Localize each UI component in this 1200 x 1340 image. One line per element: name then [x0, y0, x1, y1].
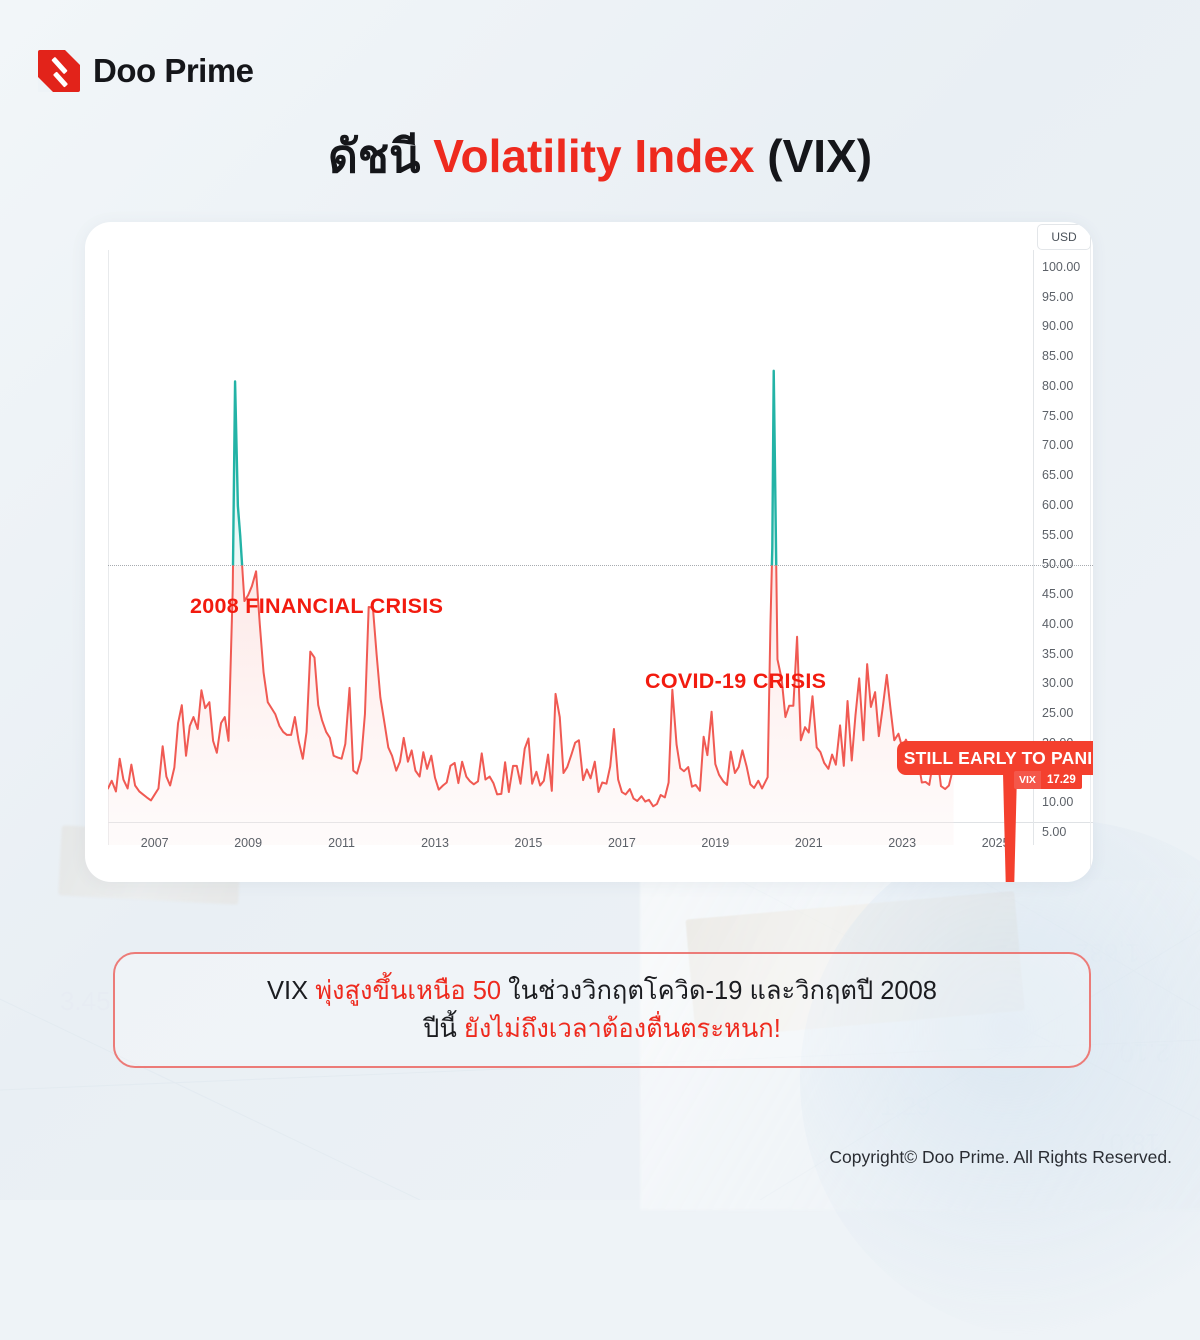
x-axis-tick: 2009 — [234, 836, 262, 850]
y-axis-tick: 90.00 — [1042, 319, 1073, 333]
y-axis-tick: 60.00 — [1042, 498, 1073, 512]
y-axis-tick: 45.00 — [1042, 587, 1073, 601]
y-axis-tick: 70.00 — [1042, 438, 1073, 452]
y-axis-tick: 85.00 — [1042, 349, 1073, 363]
chart-card: USD 5.0010.0015.0020.0025.0030.0035.0040… — [85, 222, 1093, 882]
page-title-suffix: (VIX) — [767, 130, 872, 182]
x-axis-labels: 2007200920112013201520172019202120232025 — [108, 826, 1093, 856]
caption-line-1-highlight: พุ่งสูงขึ้นเหนือ 50 — [315, 977, 501, 1005]
y-axis-tick: 100.00 — [1042, 260, 1080, 274]
x-axis-tick: 2015 — [515, 836, 543, 850]
callout-pointer-icon — [1003, 773, 1017, 882]
brand-name: Doo Prime — [93, 52, 254, 90]
annotation-2008-financial-crisis: 2008 FINANCIAL CRISIS — [190, 594, 443, 619]
doo-prime-logo-icon — [38, 50, 80, 92]
caption-box: VIX พุ่งสูงขึ้นเหนือ 50 ในช่วงวิกฤตโควิด… — [113, 952, 1091, 1068]
y-axis-tick: 25.00 — [1042, 706, 1073, 720]
y-axis-tick: 80.00 — [1042, 379, 1073, 393]
current-price-tag: VIX 17.29 — [1014, 771, 1082, 789]
x-axis-tick: 2007 — [141, 836, 169, 850]
page-title: ดัชนี Volatility Index (VIX) — [0, 120, 1200, 193]
caption-line-1: VIX พุ่งสูงขึ้นเหนือ 50 ในช่วงวิกฤตโควิด… — [267, 974, 937, 1008]
page-title-prefix: ดัชนี — [328, 130, 421, 182]
footer-copyright: Copyright© Doo Prime. All Rights Reserve… — [829, 1147, 1172, 1168]
y-axis-tick: 30.00 — [1042, 676, 1073, 690]
y-axis-tick: 35.00 — [1042, 647, 1073, 661]
x-axis-tick: 2011 — [328, 836, 355, 850]
brand-logo: Doo Prime — [38, 50, 254, 92]
caption-line-2-a: ปีนี้ — [423, 1015, 464, 1043]
y-axis-tick: 40.00 — [1042, 617, 1073, 631]
x-axis-tick: 2023 — [888, 836, 916, 850]
page-title-highlight: Volatility Index — [433, 130, 754, 182]
x-axis-tick: 2017 — [608, 836, 636, 850]
y-axis-tick: 55.00 — [1042, 528, 1073, 542]
annotation-covid-19-crisis: COVID-19 CRISIS — [645, 669, 826, 694]
price-tag-value: 17.29 — [1041, 771, 1082, 789]
annotation-still-early-to-panic: STILL EARLY TO PANIC — [897, 741, 1093, 775]
y-axis-tick: 10.00 — [1042, 795, 1073, 809]
caption-line-2: ปีนี้ ยังไม่ถึงเวลาต้องตื่นตระหนก! — [423, 1012, 781, 1046]
vix-line-chart — [108, 250, 1033, 845]
y-axis-tick: 95.00 — [1042, 290, 1073, 304]
caption-line-1-b: ในช่วงวิกฤตโควิด-19 และวิกฤตปี 2008 — [501, 977, 937, 1005]
y-axis-tick: 65.00 — [1042, 468, 1073, 482]
x-axis-tick: 2019 — [701, 836, 729, 850]
y-axis-tick: 50.00 — [1042, 557, 1073, 571]
caption-line-1-a: VIX — [267, 977, 315, 1005]
price-tag-symbol: VIX — [1014, 771, 1041, 789]
caption-line-2-highlight: ยังไม่ถึงเวลาต้องตื่นตระหนก! — [464, 1015, 781, 1043]
x-axis-tick: 2021 — [795, 836, 823, 850]
x-axis-tick: 2013 — [421, 836, 449, 850]
currency-badge[interactable]: USD — [1037, 224, 1091, 250]
y-axis-tick: 75.00 — [1042, 409, 1073, 423]
svg-text:3.45: 3.45 — [60, 986, 111, 1016]
